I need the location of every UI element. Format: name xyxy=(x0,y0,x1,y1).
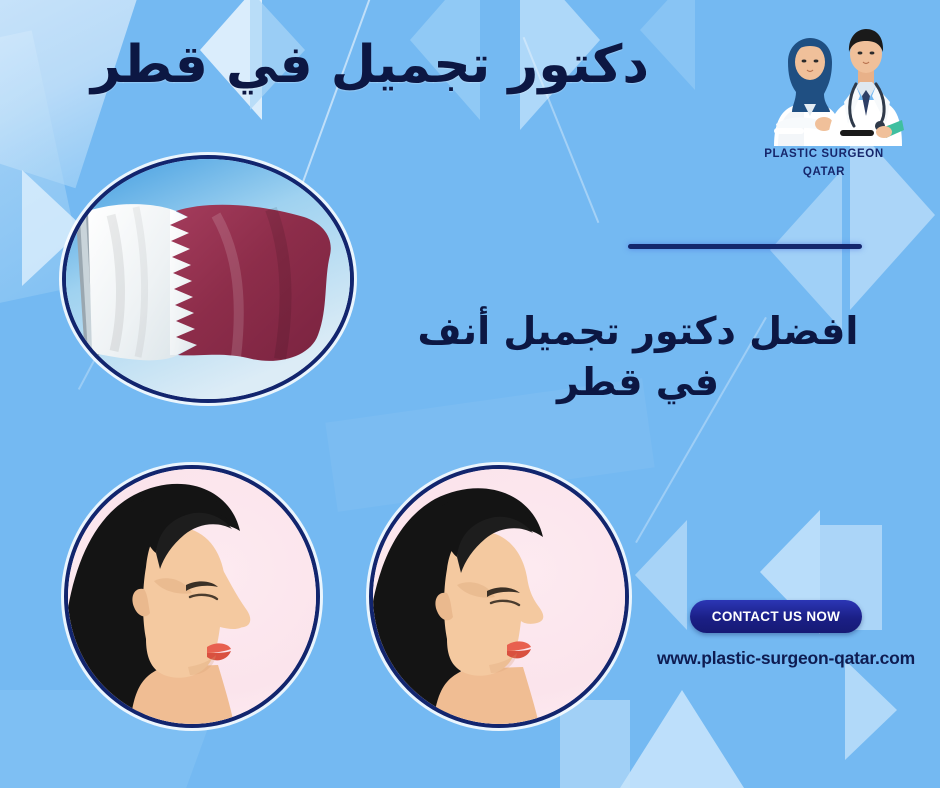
website-url[interactable]: www.plastic-surgeon-qatar.com xyxy=(636,648,936,669)
qatar-flag-circle xyxy=(62,155,354,403)
headline: افضل دكتور تجميل أنف في قطر xyxy=(388,306,888,409)
brand-logo-caption: PLASTIC SURGEON QATAR xyxy=(744,146,904,182)
decor-triangle-bottom-3 xyxy=(845,660,897,760)
page-title: دكتور تجميل في قطر xyxy=(40,36,700,94)
two-doctors-illustration-icon xyxy=(744,24,904,146)
headline-line-1: افضل دكتور تجميل أنف xyxy=(388,306,888,357)
brand-name-line1: PLASTIC SURGEON xyxy=(764,148,884,160)
decor-chevron-d xyxy=(635,520,687,630)
headline-line-2: في قطر xyxy=(388,357,888,408)
brand-name-line2: QATAR xyxy=(744,164,904,182)
section-divider xyxy=(628,244,862,249)
contact-us-button[interactable]: CONTACT US NOW xyxy=(690,600,862,633)
qatar-flag-photo-icon xyxy=(66,159,350,399)
after-photo-circle xyxy=(369,465,629,728)
decor-triangle-bottom-1 xyxy=(620,690,744,788)
brand-logo[interactable]: PLASTIC SURGEON QATAR xyxy=(744,24,904,194)
face-profile-before-rhinoplasty-icon xyxy=(68,469,316,724)
before-photo-circle xyxy=(64,465,320,728)
promo-poster: دكتور تجميل في قطر xyxy=(0,0,940,788)
decor-streak-a xyxy=(291,0,372,213)
face-profile-after-rhinoplasty-icon xyxy=(373,469,625,724)
